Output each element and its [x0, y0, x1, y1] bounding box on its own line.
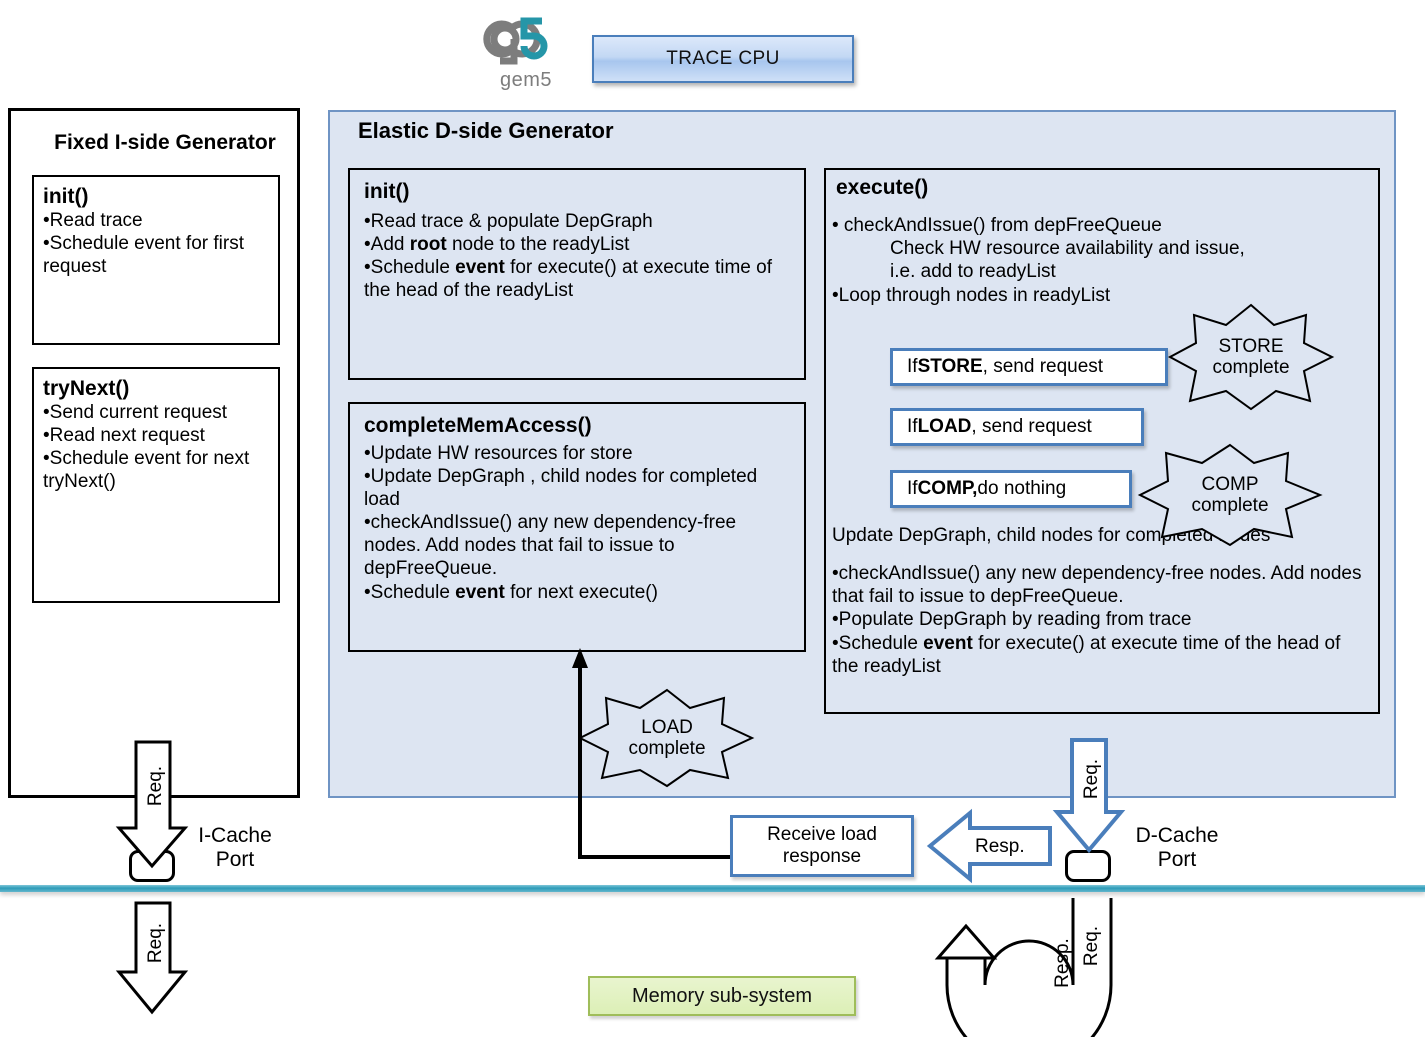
dcache-label-line-2: Port: [1122, 848, 1232, 872]
txt: If: [907, 416, 918, 438]
elastic-dside-generator-title: Elastic D-side Generator: [358, 118, 614, 144]
dside-init-title: init(): [364, 180, 792, 204]
dcache-port: [1065, 850, 1111, 882]
execute-bottom-1: •checkAndIssue() any new dependency-free…: [832, 562, 1372, 608]
txt: for next execute(): [505, 582, 658, 603]
txt: , send request: [983, 356, 1103, 378]
execute-line-3: i.e. add to readyList: [832, 260, 1372, 283]
execute-title: execute(): [836, 176, 928, 200]
txt: •Add: [364, 234, 410, 255]
iside-trynext-line-2: •Read next request: [43, 424, 269, 447]
gem5-logo: gem5: [478, 14, 574, 92]
iside-init-title: init(): [43, 185, 269, 209]
if-comp-box: If COMP, do nothing: [890, 470, 1132, 508]
cma-line-2: •Update DepGraph , child nodes for compl…: [364, 465, 794, 511]
dcache-label-line-1: D-Cache: [1122, 824, 1232, 848]
kw-event: event: [455, 257, 505, 278]
kw-store: STORE: [918, 356, 983, 378]
icache-label-line-1: I-Cache: [180, 824, 290, 848]
txt: If: [907, 356, 918, 378]
txt: •Schedule: [364, 257, 455, 278]
iside-trynext-line-1: •Send current request: [43, 401, 269, 424]
icache-req-label-bottom: Req.: [145, 918, 167, 968]
iside-trynext-box: tryNext() •Send current request •Read ne…: [32, 367, 280, 603]
dside-init-line-1: •Read trace & populate DepGraph: [364, 210, 792, 233]
if-store-box: If STORE, send request: [890, 348, 1168, 386]
kw-event: event: [923, 633, 973, 654]
cma-line-1: •Update HW resources for store: [364, 442, 794, 465]
txt: If: [907, 478, 918, 500]
icache-port-label: I-Cache Port: [180, 824, 290, 872]
if-load-box: If LOAD, send request: [890, 408, 1144, 446]
dside-init-box: init() •Read trace & populate DepGraph •…: [348, 168, 806, 380]
execute-bottom-3: •Schedule event for execute() at execute…: [832, 632, 1372, 678]
dside-complete-mem-access-box: completeMemAccess() •Update HW resources…: [348, 402, 806, 652]
iside-trynext-title: tryNext(): [43, 377, 269, 401]
kw-event: event: [455, 582, 505, 603]
dside-init-line-3: •Schedule event for execute() at execute…: [364, 256, 792, 302]
cma-title: completeMemAccess(): [364, 414, 794, 438]
receive-load-response-box: Receive load response: [730, 815, 914, 877]
dcache-req-label-top: Req.: [1081, 754, 1103, 804]
memory-boundary-divider: [0, 885, 1425, 892]
fixed-iside-generator-title: Fixed I-side Generator: [34, 131, 296, 155]
cma-line-3: •checkAndIssue() any new dependency-free…: [364, 511, 794, 581]
dcache-port-label: D-Cache Port: [1122, 824, 1232, 872]
txt: do nothing: [977, 478, 1066, 500]
execute-line-2: Check HW resource availability and issue…: [832, 237, 1372, 260]
iside-init-line-1: •Read trace: [43, 209, 269, 232]
recv-line-1: Receive load: [767, 824, 877, 846]
gem5-wordmark: gem5: [500, 69, 552, 91]
execute-line-1: • checkAndIssue() from depFreeQueue: [832, 214, 1372, 237]
txt: node to the readyList: [447, 234, 630, 255]
cma-line-4: •Schedule event for next execute(): [364, 581, 794, 604]
kw-comp: COMP,: [918, 478, 978, 500]
txt: , send request: [971, 416, 1091, 438]
icache-label-line-2: Port: [180, 848, 290, 872]
icache-port: [129, 850, 175, 882]
txt: •Schedule: [832, 633, 923, 654]
iside-trynext-line-3: •Schedule event for next tryNext(): [43, 447, 269, 493]
load-complete-star: LOAD complete: [578, 688, 756, 788]
memory-resp-label: Resp.: [1052, 934, 1074, 992]
execute-top-text: • checkAndIssue() from depFreeQueue Chec…: [832, 214, 1372, 307]
iside-init-box: init() •Read trace •Schedule event for f…: [32, 175, 280, 345]
kw-load: LOAD: [918, 416, 972, 438]
txt: •Schedule: [364, 582, 455, 603]
recv-line-2: response: [783, 846, 861, 868]
memory-subsystem-box: Memory sub-system: [588, 976, 856, 1016]
memory-req-label: Req.: [1081, 921, 1103, 971]
store-complete-star: STORE complete: [1166, 303, 1336, 411]
iside-init-line-2: •Schedule event for first request: [43, 232, 269, 278]
kw-root: root: [410, 234, 447, 255]
icache-req-label-top: Req.: [145, 761, 167, 811]
trace-cpu-button[interactable]: TRACE CPU: [592, 35, 854, 83]
execute-bottom-2: •Populate DepGraph by reading from trace: [832, 608, 1372, 631]
memory-subsystem-label: Memory sub-system: [632, 985, 812, 1008]
dside-init-line-2: •Add root node to the readyList: [364, 233, 792, 256]
trace-cpu-label: TRACE CPU: [666, 48, 779, 70]
execute-bottom-text: •checkAndIssue() any new dependency-free…: [832, 562, 1372, 678]
dcache-resp-label: Resp.: [975, 836, 1025, 858]
comp-complete-star: COMP complete: [1136, 443, 1324, 547]
